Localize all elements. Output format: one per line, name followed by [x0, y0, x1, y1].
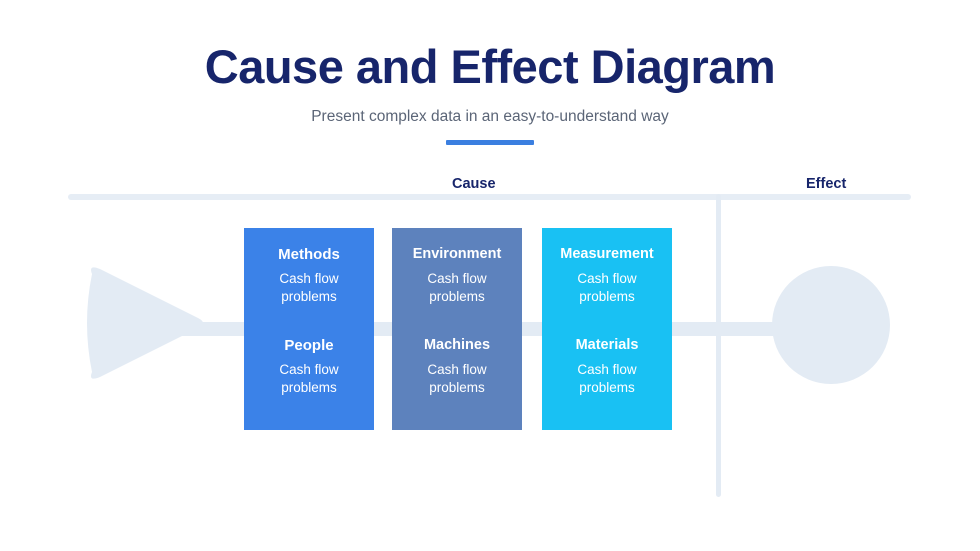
card-slot-lower: People Cash flow problems	[244, 336, 374, 397]
card-body-lower: Cash flow problems	[244, 355, 374, 397]
fish-tail-shape	[78, 258, 208, 388]
section-label-effect: Effect	[806, 176, 846, 192]
card-heading-lower: Machines	[392, 336, 522, 355]
card-body-lower: Cash flow problems	[392, 355, 522, 397]
fishbone-diagram: Cause Effect Methods Cash flow problems …	[0, 0, 980, 551]
section-label-cause: Cause	[452, 176, 496, 192]
cause-effect-divider	[716, 194, 721, 497]
cause-column-measurement-materials[interactable]: Measurement Cash flow problems Materials…	[542, 228, 672, 430]
card-heading-upper: Environment	[392, 245, 522, 264]
card-slot-lower: Materials Cash flow problems	[542, 336, 672, 397]
card-heading-upper: Methods	[244, 245, 374, 264]
card-slot-lower: Machines Cash flow problems	[392, 336, 522, 397]
effect-circle	[772, 266, 890, 384]
card-body-upper: Cash flow problems	[392, 264, 522, 306]
card-body-lower: Cash flow problems	[542, 355, 672, 397]
cause-column-environment-machines[interactable]: Environment Cash flow problems Machines …	[392, 228, 522, 430]
card-heading-lower: Materials	[542, 336, 672, 355]
card-heading-upper: Measurement	[542, 245, 672, 264]
card-body-upper: Cash flow problems	[244, 264, 374, 306]
top-divider-rule	[68, 194, 911, 200]
card-body-upper: Cash flow problems	[542, 264, 672, 306]
cause-column-methods-people[interactable]: Methods Cash flow problems People Cash f…	[244, 228, 374, 430]
card-heading-lower: People	[244, 336, 374, 355]
